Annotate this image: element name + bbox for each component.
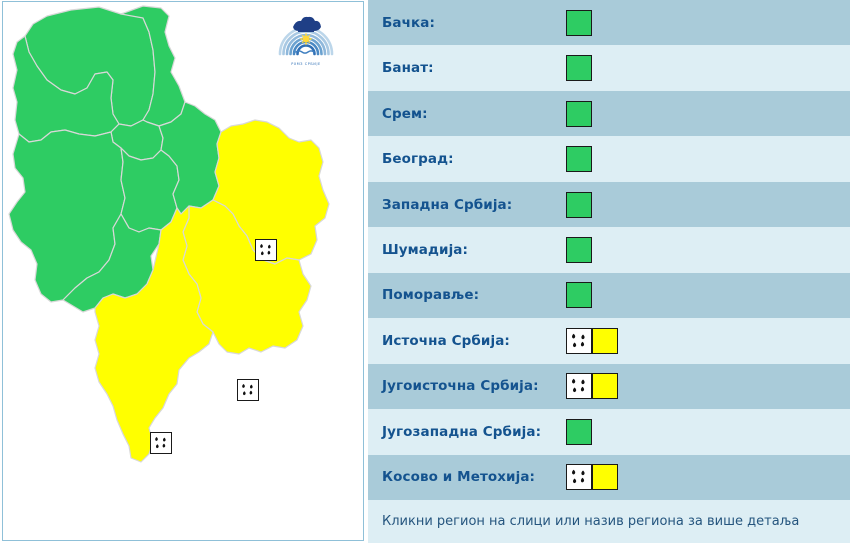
alert-swatch-green (566, 282, 592, 308)
alert-swatch-green (566, 55, 592, 81)
map-panel: РХМЗ СРБИЈЕ (0, 0, 368, 543)
legend-row-srem[interactable]: Срем: (368, 91, 850, 136)
legend-row-kosovo-metohija[interactable]: Косово и Метохија: (368, 455, 850, 500)
alert-swatches (566, 10, 592, 36)
legend-row-istocna-srbija[interactable]: Источна Србија: (368, 318, 850, 363)
legend-row-backa[interactable]: Бачка: (368, 0, 850, 45)
alert-swatches (566, 101, 592, 127)
alert-swatch-green (566, 101, 592, 127)
alert-swatches (566, 419, 592, 445)
alert-swatch-green (566, 146, 592, 172)
weather-warning-app: РХМЗ СРБИЈЕ (0, 0, 850, 543)
map-frame: РХМЗ СРБИЈЕ (2, 1, 364, 541)
region-label[interactable]: Срем: (382, 106, 562, 122)
alert-swatches (566, 328, 618, 354)
map-region-sumadija[interactable] (121, 148, 179, 232)
region-label[interactable]: Југоисточна Србија: (382, 378, 562, 394)
region-label[interactable]: Банат: (382, 60, 562, 76)
legend-row-jugozapadna-srbija[interactable]: Југозападна Србија: (368, 409, 850, 454)
legend-row-jugoistocna-srbija[interactable]: Југоисточна Србија: (368, 364, 850, 409)
logo-caption: РХМЗ СРБИЈЕ (291, 62, 321, 66)
legend-row-pomoravlje[interactable]: Поморавље: (368, 273, 850, 318)
serbia-warning-map[interactable] (3, 2, 365, 542)
alert-swatches (566, 192, 592, 218)
alert-swatches (566, 282, 592, 308)
region-label[interactable]: Поморавље: (382, 287, 562, 303)
legend-row-beograd[interactable]: Београд: (368, 136, 850, 181)
region-label[interactable]: Југозападна Србија: (382, 424, 562, 440)
legend-footer: Кликни регион на слици или назив региона… (368, 500, 850, 543)
alert-swatch-yellow (592, 373, 618, 399)
region-label[interactable]: Западна Србија: (382, 197, 562, 213)
alert-swatch-green (566, 10, 592, 36)
alert-swatches (566, 237, 592, 263)
sleet-icon-kosovo-metohija[interactable] (150, 432, 172, 454)
region-label[interactable]: Шумадија: (382, 242, 562, 258)
sleet-icon (566, 328, 592, 354)
legend-row-sumadija[interactable]: Шумадија: (368, 227, 850, 272)
alert-swatches (566, 146, 592, 172)
sleet-icon-jugoistocna-srbija[interactable] (237, 379, 259, 401)
alert-swatch-yellow (592, 464, 618, 490)
alert-swatch-green (566, 237, 592, 263)
sleet-icon-istocna-srbija[interactable] (255, 239, 277, 261)
alert-swatch-green (566, 419, 592, 445)
alert-swatch-yellow (592, 328, 618, 354)
region-label[interactable]: Бачка: (382, 15, 562, 31)
sleet-icon (566, 464, 592, 490)
legend-footer-text: Кликни регион на слици или назив региона… (382, 514, 799, 529)
rhmz-serbia-logo: РХМЗ СРБИЈЕ (275, 8, 337, 70)
region-legend-panel: Бачка: Банат: Срем: Београд: Западна Срб (368, 0, 850, 543)
sleet-icon (566, 373, 592, 399)
region-label[interactable]: Косово и Метохија: (382, 469, 562, 485)
legend-row-banat[interactable]: Банат: (368, 45, 850, 90)
legend-row-zapadna-srbija[interactable]: Западна Србија: (368, 182, 850, 227)
alert-swatches (566, 464, 618, 490)
alert-swatch-green (566, 192, 592, 218)
alert-swatches (566, 55, 592, 81)
region-label[interactable]: Источна Србија: (382, 333, 562, 349)
region-label[interactable]: Београд: (382, 151, 562, 167)
alert-swatches (566, 373, 618, 399)
